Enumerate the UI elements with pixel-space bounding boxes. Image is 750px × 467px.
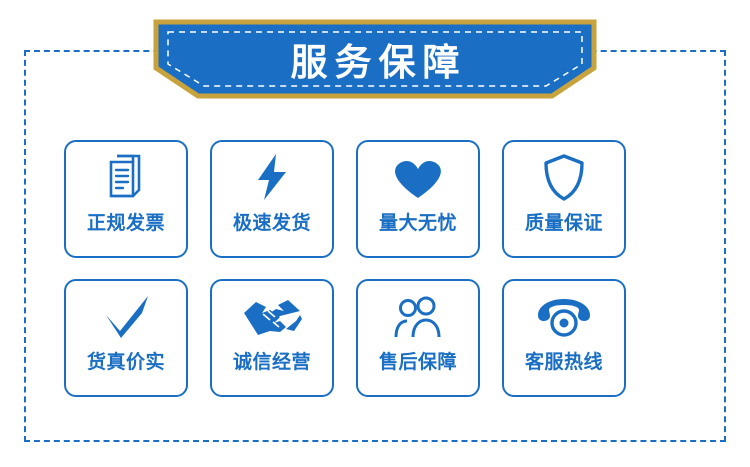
lightning-bolt-icon (212, 142, 332, 212)
service-card-label: 售后保障 (379, 353, 457, 372)
service-card-label: 量大无忧 (379, 214, 457, 233)
telephone-icon (504, 281, 624, 351)
service-card-label: 极速发货 (233, 214, 311, 233)
service-card-after-sales[interactable]: 售后保障 (356, 279, 480, 397)
service-card-label: 正规发票 (87, 214, 165, 233)
service-guarantee-poster: 服务保障 (0, 0, 750, 467)
service-card-hotline[interactable]: 客服热线 (502, 279, 626, 397)
heart-icon (358, 142, 478, 212)
handshake-icon (212, 281, 332, 351)
service-card-invoice[interactable]: 正规发票 (64, 140, 188, 258)
service-card-label: 客服热线 (525, 353, 603, 372)
service-card-bulk-order[interactable]: 量大无忧 (356, 140, 480, 258)
shield-icon (504, 142, 624, 212)
invoice-icon (66, 142, 186, 212)
checkmark-icon (66, 281, 186, 351)
service-card-fast-shipping[interactable]: 极速发货 (210, 140, 334, 258)
service-card-label: 质量保证 (525, 214, 603, 233)
service-card-genuine-price[interactable]: 货真价实 (64, 279, 188, 397)
two-people-icon (358, 281, 478, 351)
service-card-integrity[interactable]: 诚信经营 (210, 279, 334, 397)
service-card-grid: 正规发票 极速发货 量大无忧 (64, 140, 686, 397)
service-card-label: 诚信经营 (233, 353, 311, 372)
banner: 服务保障 (152, 18, 598, 100)
service-card-quality[interactable]: 质量保证 (502, 140, 626, 258)
service-card-label: 货真价实 (87, 353, 165, 372)
banner-title: 服务保障 (152, 18, 598, 100)
